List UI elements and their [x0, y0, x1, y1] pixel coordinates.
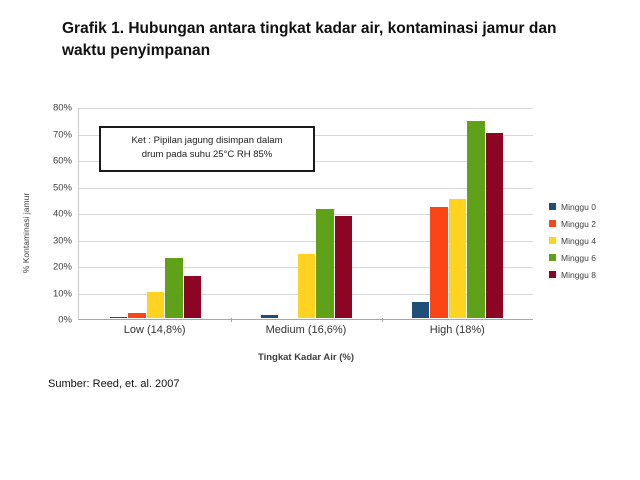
- bar: [335, 216, 353, 318]
- bar: [128, 313, 146, 318]
- legend-item[interactable]: Minggu 8: [549, 266, 635, 283]
- chart-legend: Minggu 0Minggu 2Minggu 4Minggu 6Minggu 8: [549, 198, 635, 283]
- bar-chart: % Kontaminasi jamur 0%10%20%30%40%50%60%…: [0, 100, 640, 385]
- y-axis-tick-label: 80%: [36, 103, 72, 114]
- bar: [165, 258, 183, 318]
- bar: [110, 317, 128, 318]
- bar: [430, 207, 448, 318]
- legend-item[interactable]: Minggu 0: [549, 198, 635, 215]
- y-axis-tick-label: 30%: [36, 235, 72, 246]
- legend-swatch-icon: [549, 271, 556, 278]
- bar-slot: [449, 106, 467, 318]
- y-axis-tick-labels: 0%10%20%30%40%50%60%70%80%: [36, 108, 72, 320]
- bar: [449, 199, 467, 318]
- category-tick: [382, 318, 383, 322]
- bar: [412, 302, 430, 318]
- annotation-callout: Ket : Pipilan jagung disimpan dalam drum…: [99, 126, 315, 172]
- bar: [486, 133, 504, 319]
- x-axis-tick-label: Low (14,8%): [79, 324, 230, 336]
- bar-slot: [467, 106, 485, 318]
- legend-label: Minggu 6: [561, 253, 596, 263]
- page-title: Grafik 1. Hubungan antara tingkat kadar …: [62, 18, 582, 63]
- bar-slot: [335, 106, 353, 318]
- bar-slot: [412, 106, 430, 318]
- bar-slot: [486, 106, 504, 318]
- x-axis-tick-label: Medium (16,6%): [230, 324, 381, 336]
- legend-item[interactable]: Minggu 2: [549, 215, 635, 232]
- bar: [467, 121, 485, 318]
- legend-label: Minggu 4: [561, 236, 596, 246]
- annotation-line-2: drum pada suhu 25°C RH 85%: [105, 148, 309, 162]
- bar: [184, 276, 202, 318]
- legend-label: Minggu 8: [561, 270, 596, 280]
- legend-swatch-icon: [549, 237, 556, 244]
- annotation-line-1: Ket : Pipilan jagung disimpan dalam: [105, 134, 309, 148]
- x-axis-title: Tingkat Kadar Air (%): [79, 352, 533, 363]
- source-note: Sumber: Reed, et. al. 2007: [48, 378, 179, 390]
- y-axis-tick-label: 20%: [36, 262, 72, 273]
- y-axis-tick-label: 40%: [36, 209, 72, 220]
- legend-label: Minggu 0: [561, 202, 596, 212]
- legend-swatch-icon: [549, 203, 556, 210]
- y-axis-tick-label: 70%: [36, 129, 72, 140]
- y-axis-tick-label: 50%: [36, 182, 72, 193]
- y-axis-tick-label: 10%: [36, 288, 72, 299]
- legend-swatch-icon: [549, 220, 556, 227]
- bar: [298, 254, 316, 318]
- legend-item[interactable]: Minggu 4: [549, 232, 635, 249]
- x-axis-tick-labels: Low (14,8%)Medium (16,6%)High (18%): [79, 324, 533, 336]
- y-axis-tick-label: 0%: [36, 315, 72, 326]
- y-axis-tick-label: 60%: [36, 156, 72, 167]
- category-tick: [231, 318, 232, 322]
- bar-slot: [430, 106, 448, 318]
- legend-item[interactable]: Minggu 6: [549, 249, 635, 266]
- y-axis-title: % Kontaminasi jamur: [21, 163, 31, 303]
- bar: [316, 209, 334, 318]
- bar-group: [382, 108, 533, 318]
- bar-slot: [316, 106, 334, 318]
- legend-label: Minggu 2: [561, 219, 596, 229]
- legend-swatch-icon: [549, 254, 556, 261]
- bar: [147, 292, 165, 319]
- x-axis-tick-label: High (18%): [382, 324, 533, 336]
- bar: [261, 315, 279, 318]
